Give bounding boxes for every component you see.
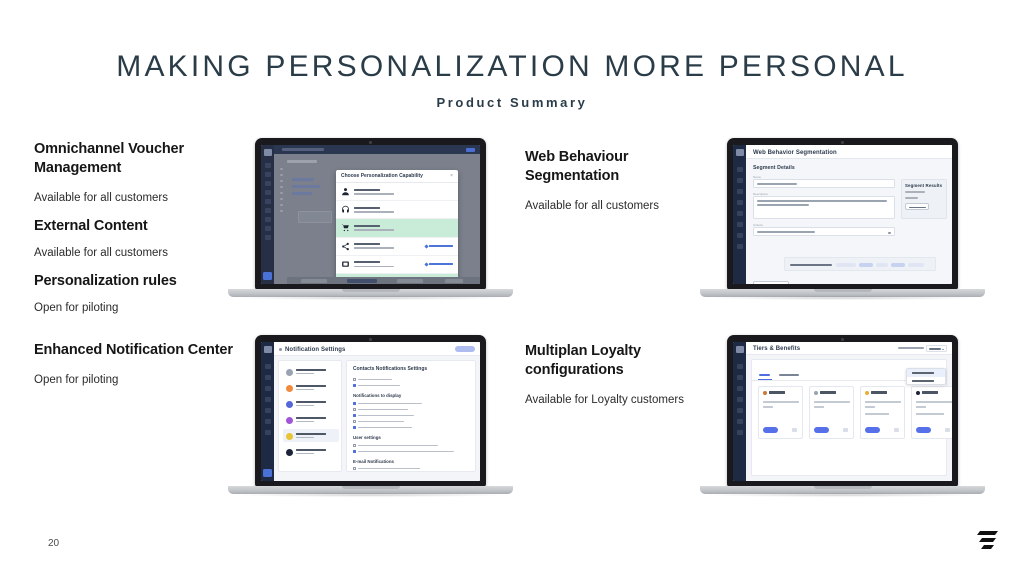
option-label: [358, 385, 400, 387]
input-value: [757, 200, 887, 202]
app-header: Web Behavior Segmentation: [746, 145, 952, 159]
checkbox-label: [358, 421, 404, 423]
tier-detail-line: [763, 401, 799, 403]
modal-header: Choose Personalization Capability ×: [336, 170, 458, 183]
radio-option-selected[interactable]: [353, 384, 356, 387]
sidebar-icon: [737, 430, 743, 435]
laptop-mockup-segmentation: Web Behavior Segmentation Segment Detail…: [700, 138, 985, 313]
tier-detail-line: [763, 406, 773, 408]
panel-title: Contacts Notifications Settings: [353, 366, 427, 372]
chevron-down-icon[interactable]: [888, 232, 891, 234]
loyalty-program-label: [898, 347, 924, 349]
page-subtitle: Product Summary: [0, 95, 1024, 110]
criteria-chip[interactable]: [859, 263, 873, 267]
bottom-tab[interactable]: [445, 279, 463, 283]
checkbox-label: [358, 451, 454, 453]
segmentation-page-title: Web Behavior Segmentation: [753, 150, 837, 156]
sidebar-icon: [265, 375, 271, 380]
capability-row-text: [354, 261, 425, 267]
sidebar-icon: [265, 397, 271, 402]
sidebar-icon: [737, 408, 743, 413]
notifications-page-title: Notification Settings: [285, 347, 345, 353]
tier-name: [769, 391, 785, 393]
tab-fixed-benefits[interactable]: [778, 371, 800, 380]
person-icon: [341, 187, 350, 196]
app-content: [746, 355, 952, 481]
app-content: Contacts Notifications Settings Notifica…: [274, 356, 480, 481]
name-input[interactable]: [753, 179, 895, 188]
app-content: Choose Personalization Capability ×: [274, 154, 480, 284]
contacts-notifications-settings-panel: Contacts Notifications Settings Notifica…: [346, 360, 476, 472]
tab-tiers[interactable]: [758, 371, 772, 380]
tier-name: [871, 391, 887, 393]
run-query-button[interactable]: [905, 203, 929, 210]
capability-row-vouchers[interactable]: [336, 219, 458, 237]
tier-more-icon[interactable]: [843, 428, 848, 432]
loyalty-program-dropdown-menu[interactable]: [906, 368, 946, 385]
laptop-lid: Notification Settings: [255, 335, 486, 487]
loyalty-page-title: Tiers & Benefits: [753, 346, 800, 352]
tier-more-icon[interactable]: [945, 428, 950, 432]
feature-web-behaviour-segmentation: Web Behaviour Segmentation Available for…: [525, 148, 725, 214]
input-value: [757, 183, 797, 185]
tier-more-icon[interactable]: [894, 428, 899, 432]
category-icon: [286, 433, 293, 440]
sidebar-icon: [737, 167, 743, 172]
capability-row-text: [354, 225, 453, 231]
sidebar-icon: [737, 364, 743, 369]
sidebar-icon: [737, 375, 743, 380]
loyalty-program-select[interactable]: [926, 345, 947, 352]
page-title: MAKING PERSONALIZATION MORE PERSONAL: [0, 50, 1024, 84]
headset-icon: [341, 205, 350, 214]
app-sidebar: [261, 342, 274, 481]
pencil-icon: [424, 262, 428, 266]
select-value: [929, 348, 941, 350]
sidebar-icon: [265, 172, 271, 177]
tier-action-button[interactable]: [763, 427, 778, 433]
laptop-shadow: [708, 296, 977, 300]
select-value: [757, 231, 815, 233]
capability-row-text: [354, 189, 453, 195]
technical-settings-link[interactable]: [425, 263, 454, 266]
dropdown-item-selected[interactable]: [907, 369, 945, 377]
notification-categories-list: [278, 360, 342, 472]
criteria-builder-row[interactable]: [784, 257, 936, 271]
tier-action-button[interactable]: [916, 427, 931, 433]
modal-title: Choose Personalization Capability: [341, 173, 423, 179]
tab-label: [759, 374, 770, 376]
criteria-chip[interactable]: [891, 263, 905, 267]
save-button[interactable]: [455, 346, 475, 352]
feature-heading: Web Behaviour Segmentation: [525, 148, 725, 186]
feature-heading: Personalization rules: [34, 272, 234, 291]
shopping-cart-icon: [341, 223, 350, 232]
tier-detail-line: [865, 413, 889, 415]
tier-card[interactable]: [911, 386, 952, 439]
category-icon: [286, 401, 293, 408]
app-sidebar: [733, 342, 746, 481]
sidebar-icon: [265, 208, 271, 213]
sidebar-icon: [265, 181, 271, 186]
tier-detail-line: [916, 406, 926, 408]
notification-settings-screenshot: Notification Settings: [261, 342, 480, 481]
breadcrumb: [282, 148, 324, 151]
laptop-lid: Choose Personalization Capability ×: [255, 138, 486, 290]
feature-status: Available for all customers: [34, 191, 234, 206]
section-heading: Notifications to display: [353, 393, 401, 398]
criteria-text: [790, 264, 832, 266]
tier-card[interactable]: [860, 386, 905, 439]
technical-settings-link[interactable]: [425, 245, 454, 248]
sidebar-icon: [737, 419, 743, 424]
capability-row-predict[interactable]: [336, 201, 458, 219]
button-label: [909, 207, 926, 209]
webcam-icon: [369, 338, 372, 341]
title-block: MAKING PERSONALIZATION MORE PERSONAL Pro…: [0, 50, 1024, 110]
category-icon: [286, 417, 293, 424]
tier-detail-line: [916, 413, 944, 415]
section-heading: User settings: [353, 435, 381, 440]
segment-results-panel: Segment Results: [901, 179, 947, 219]
app-logo-icon: [264, 346, 272, 353]
checkbox-label: [358, 409, 408, 411]
sidebar-icon: [737, 211, 743, 216]
voucher-management-screenshot: Choose Personalization Capability ×: [261, 145, 480, 284]
sidebar-icon: [737, 200, 743, 205]
feature-status: Open for piloting: [34, 373, 234, 388]
emarsys-logo: [976, 528, 1002, 552]
tiers-and-benefits-screenshot: Tiers & Benefits: [733, 342, 952, 481]
sidebar-icon: [265, 163, 271, 168]
checkbox[interactable]: [353, 467, 356, 470]
sidebar-icon: [265, 408, 271, 413]
tier-card[interactable]: [809, 386, 854, 439]
tier-detail-line: [814, 406, 824, 408]
feature-status: Available for all customers: [525, 199, 725, 214]
sidebar-icon: [265, 364, 271, 369]
laptop-mockup-loyalty: Tiers & Benefits: [700, 335, 985, 510]
segment-results-title: Segment Results: [905, 183, 942, 188]
sidebar-icon: [737, 222, 743, 227]
laptop-shadow: [236, 493, 505, 497]
tab-label: [779, 374, 799, 376]
checkbox-label: [358, 403, 422, 405]
section-heading: E-mail Notifications: [353, 459, 394, 464]
criteria-chip[interactable]: [836, 263, 856, 267]
tier-detail-line: [865, 401, 901, 403]
capability-row-text: [354, 243, 425, 249]
app-logo-icon: [736, 149, 744, 156]
category-icon: [286, 369, 293, 376]
slide: MAKING PERSONALIZATION MORE PERSONAL Pro…: [0, 0, 1024, 576]
back-arrow-icon[interactable]: [279, 348, 282, 351]
tier-color-dot: [865, 391, 869, 395]
app-logo-icon: [264, 149, 272, 156]
tier-name: [820, 391, 836, 393]
webcam-icon: [841, 141, 844, 144]
create-segment-button[interactable]: [753, 281, 789, 284]
network-icon: [341, 242, 350, 251]
bottom-tab[interactable]: [397, 279, 423, 283]
tier-more-icon[interactable]: [792, 428, 797, 432]
sidebar-icon: [737, 233, 743, 238]
capability-row-text: [354, 207, 453, 213]
category-icon: [286, 449, 293, 456]
results-label: [905, 191, 925, 193]
list-item[interactable]: [283, 365, 339, 378]
criteria-chip[interactable]: [908, 263, 924, 267]
page-number: 20: [48, 538, 59, 549]
list-item[interactable]: [283, 397, 339, 410]
feature-enhanced-notification-center: Enhanced Notification Center Open for pi…: [34, 341, 234, 388]
tier-name: [922, 391, 938, 393]
criteria-select[interactable]: [753, 227, 895, 236]
feature-omnichannel-voucher-management: Omnichannel Voucher Management Available…: [34, 140, 234, 206]
device-icon: [341, 260, 350, 269]
app-logo-icon: [736, 346, 744, 353]
checkbox[interactable]: [353, 426, 356, 429]
sidebar-account-icon: [263, 469, 272, 477]
capability-row-external-content[interactable]: [336, 256, 458, 274]
checkbox-label: [358, 427, 412, 429]
feature-external-content: External Content Available for all custo…: [34, 217, 234, 261]
feature-status: Available for all customers: [34, 246, 234, 261]
choose-personalization-capability-modal: Choose Personalization Capability ×: [336, 170, 458, 284]
capability-row-external-data[interactable]: [336, 238, 458, 256]
criteria-chip[interactable]: [876, 263, 888, 267]
sidebar-icon: [737, 189, 743, 194]
laptop-mockup-voucher: Choose Personalization Capability ×: [228, 138, 513, 313]
laptop-mockup-notifications: Notification Settings: [228, 335, 513, 510]
sidebar-icon: [737, 244, 743, 249]
sidebar-icon: [265, 386, 271, 391]
radio-option[interactable]: [353, 378, 356, 381]
close-icon[interactable]: ×: [450, 173, 453, 179]
checkbox-label: [358, 445, 438, 447]
dropdown-item[interactable]: [907, 377, 945, 385]
feature-heading: External Content: [34, 217, 234, 236]
tier-color-dot: [763, 391, 767, 395]
checkbox[interactable]: [353, 444, 356, 447]
webcam-icon: [841, 338, 844, 341]
app-header: Tiers & Benefits: [746, 342, 952, 355]
app-sidebar: [261, 145, 274, 284]
sidebar-icon: [737, 178, 743, 183]
sidebar-icon: [265, 199, 271, 204]
checkbox[interactable]: [353, 408, 356, 411]
bottom-tabbar: [287, 277, 480, 284]
sidebar-icon: [265, 217, 271, 222]
tier-detail-line: [916, 401, 952, 403]
checkbox[interactable]: [353, 420, 356, 423]
category-icon: [286, 385, 293, 392]
webcam-icon: [369, 141, 372, 144]
tier-action-button[interactable]: [814, 427, 829, 433]
list-item[interactable]: [283, 445, 339, 458]
laptop-shadow: [236, 296, 505, 300]
sidebar-icon: [265, 190, 271, 195]
tier-card[interactable]: [758, 386, 803, 439]
sidebar-icon: [265, 430, 271, 435]
tier-detail-line: [865, 406, 875, 408]
laptop-shadow: [708, 493, 977, 497]
list-item[interactable]: [283, 381, 339, 394]
feature-heading: Enhanced Notification Center: [34, 341, 234, 360]
option-label: [358, 379, 392, 381]
sidebar-icon: [265, 419, 271, 424]
feature-heading: Omnichannel Voucher Management: [34, 140, 234, 178]
checkbox-label: [358, 415, 414, 417]
feature-status: Open for piloting: [34, 301, 234, 316]
checkbox[interactable]: [353, 402, 356, 405]
capability-row-contact-data[interactable]: [336, 183, 458, 201]
checkbox[interactable]: [353, 450, 356, 453]
sidebar-icon: [737, 397, 743, 402]
chevron-down-icon[interactable]: [942, 349, 945, 350]
sidebar-account-icon: [263, 272, 272, 280]
bottom-tab[interactable]: [301, 279, 327, 283]
app-header: Notification Settings: [274, 342, 480, 356]
sidebar-icon: [737, 386, 743, 391]
web-behavior-segmentation-screenshot: Web Behavior Segmentation Segment Detail…: [733, 145, 952, 284]
list-item-selected[interactable]: [283, 429, 339, 442]
tier-detail-line: [814, 401, 850, 403]
header-action-button[interactable]: [466, 148, 475, 152]
list-item[interactable]: [283, 413, 339, 426]
app-header: [274, 145, 480, 154]
laptop-lid: Web Behavior Segmentation Segment Detail…: [727, 138, 958, 290]
results-label: [905, 197, 918, 199]
feature-personalization-rules: Personalization rules Open for piloting: [34, 272, 234, 316]
checkbox[interactable]: [353, 414, 356, 417]
checkbox-label: [358, 468, 420, 470]
input-value: [757, 204, 809, 206]
description-textarea[interactable]: [753, 196, 895, 219]
sidebar-icon: [265, 235, 271, 240]
app-sidebar: [733, 145, 746, 284]
app-content: Segment Details Name Description Criteri…: [746, 159, 952, 284]
laptop-lid: Tiers & Benefits: [727, 335, 958, 487]
tier-color-dot: [916, 391, 920, 395]
segment-details-heading: Segment Details: [753, 165, 795, 171]
tier-action-button[interactable]: [865, 427, 880, 433]
tier-color-dot: [814, 391, 818, 395]
bottom-tab-active[interactable]: [347, 279, 377, 283]
sidebar-icon: [265, 226, 271, 231]
pencil-icon: [424, 244, 428, 248]
